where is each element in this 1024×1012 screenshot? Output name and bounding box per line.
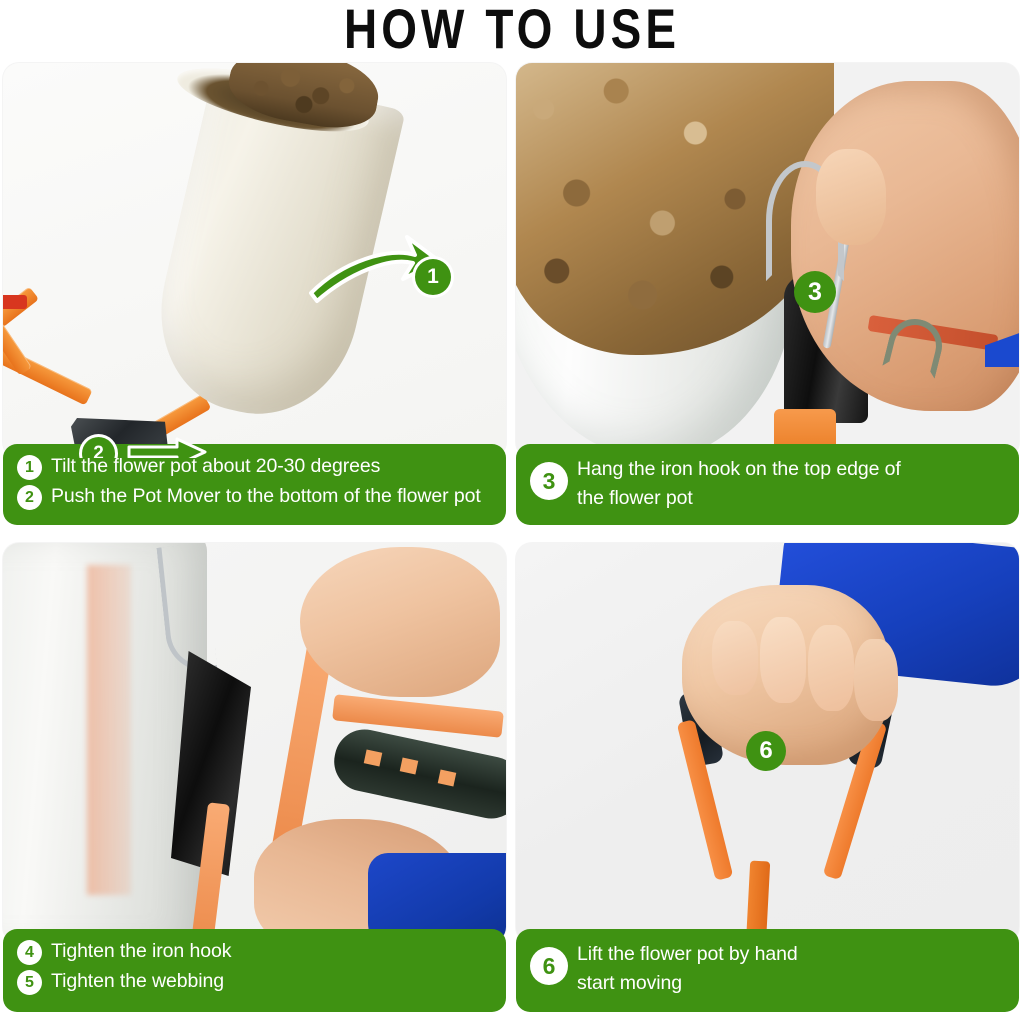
panel-2-caption: 3 Hang the iron hook on the top edge of … — [516, 444, 1019, 525]
steps-grid: 1 2 1 Tilt the flower pot about 20-30 de… — [0, 63, 1024, 1012]
caption-line: 3 Hang the iron hook on the top edge of … — [530, 453, 1005, 513]
step-badge-3-label: 3 — [808, 278, 822, 307]
finger — [712, 621, 758, 695]
caption-text: Tighten the iron hook — [51, 938, 231, 964]
caption-text: Push the Pot Mover to the bottom of the … — [51, 483, 481, 509]
caption-number: 4 — [17, 940, 42, 965]
buckle-slot — [438, 769, 457, 786]
buckle-slot — [364, 749, 383, 766]
caption-number: 2 — [17, 485, 42, 510]
caption-number: 6 — [530, 947, 568, 985]
panel-1-photo: 1 2 — [3, 63, 506, 458]
hand-upper — [300, 547, 500, 697]
panel-4-caption: 6 Lift the flower pot by hand start movi… — [516, 929, 1019, 1012]
panel-3-caption: 4 Tighten the iron hook 5 Tighten the we… — [3, 929, 506, 1012]
panel-2-photo: 3 — [516, 63, 1019, 458]
panel-1-caption: 1 Tilt the flower pot about 20-30 degree… — [3, 444, 506, 525]
strap-tip — [3, 295, 27, 309]
caption-line: 2 Push the Pot Mover to the bottom of th… — [17, 483, 492, 510]
caption-line: 4 Tighten the iron hook — [17, 938, 492, 965]
caption-line: 6 Lift the flower pot by hand start movi… — [530, 938, 1005, 998]
step-badge-6: 6 — [746, 731, 786, 771]
panel-3-photo: 4 5 — [3, 543, 506, 943]
caption-number: 5 — [17, 970, 42, 995]
step-badge-3: 3 — [794, 271, 836, 313]
step-badge-2-label: 2 — [93, 443, 104, 459]
caption-text: Tighten the webbing — [51, 968, 224, 994]
caption-number: 3 — [530, 462, 568, 500]
thumb — [816, 149, 886, 245]
page-title: HOW TO USE — [92, 0, 932, 60]
caption-text: Lift the flower pot by hand start moving — [577, 938, 798, 998]
step-badge-6-label: 6 — [759, 737, 772, 765]
panel-4-photo: 6 — [516, 543, 1019, 943]
finger — [854, 639, 898, 721]
finger — [808, 625, 854, 711]
caption-text: Hang the iron hook on the top edge of th… — [577, 453, 901, 513]
finger — [760, 617, 806, 703]
caption-line: 5 Tighten the webbing — [17, 968, 492, 995]
step-card-4: 6 6 Lift the flower pot by hand start mo… — [516, 543, 1019, 1012]
step-badge-1-label: 1 — [427, 265, 439, 289]
straight-arrow-right-icon — [127, 437, 207, 458]
infographic-root: HOW TO USE — [0, 0, 1024, 1012]
step-card-3: 4 5 4 Tighten the iron hook 5 Tighten th… — [3, 543, 506, 1012]
buckle-slot — [400, 757, 419, 774]
step-card-2: 3 3 Hang the iron hook on the top edge o… — [516, 63, 1019, 525]
caption-number: 1 — [17, 455, 42, 480]
step-badge-1: 1 — [415, 259, 451, 295]
step-card-1: 1 2 1 Tilt the flower pot about 20-30 de… — [3, 63, 506, 525]
pot-reflection — [87, 565, 131, 895]
